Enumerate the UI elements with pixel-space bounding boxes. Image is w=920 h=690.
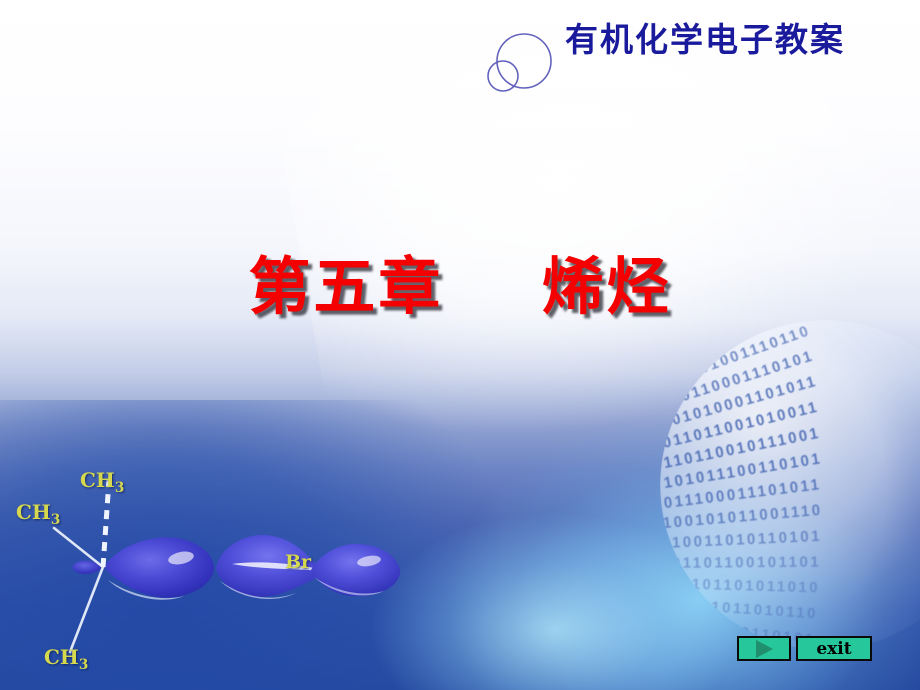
methyl-label-bottom: CH3 <box>44 645 88 673</box>
methyl-label-top: CH3 <box>80 468 124 496</box>
page-title: 第五章 烯烃 <box>0 236 920 326</box>
play-button[interactable] <box>737 636 791 661</box>
play-triangle-icon <box>756 640 773 658</box>
slide-background <box>0 0 920 690</box>
methyl-label-left: CH3 <box>16 500 60 528</box>
header-title: 有机化学电子教案 <box>565 13 845 61</box>
bromine-label: Br <box>285 551 311 573</box>
presentation-slide: 1100111011010010110110100111011011010001… <box>0 0 920 690</box>
exit-button[interactable]: exit <box>796 636 872 661</box>
